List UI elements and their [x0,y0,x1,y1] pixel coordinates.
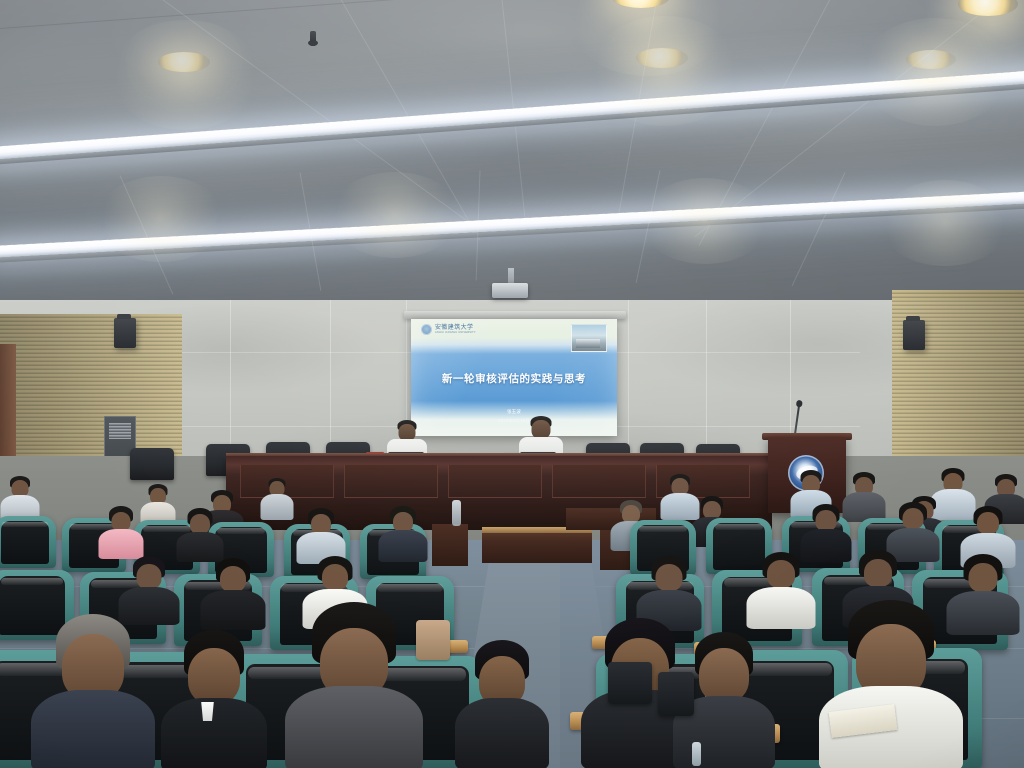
audience-member-foreground [284,602,424,768]
slide-presenter: 张玉波 [411,409,617,415]
downlight-glow [96,176,226,262]
university-crest-icon [421,324,432,335]
slide-university-logo: 安徽建筑大学 ANHUI JIANZHU UNIVERSITY [421,324,476,335]
slide-logo-en: ANHUI JIANZHU UNIVERSITY [435,331,476,334]
water-bottle [452,500,461,526]
water-bottle [692,742,701,766]
downlight-glow [860,18,1010,126]
lecture-hall-photo: 安徽建筑大学 ANHUI JIANZHU UNIVERSITY 新一轮审核评估的… [0,0,1024,768]
aisle-desk-left [432,524,468,566]
auditorium-seat[interactable] [0,516,56,568]
audience-member-foreground [30,614,156,768]
recessed-downlight[interactable] [906,50,956,69]
audience-member [200,558,266,628]
audience-member [118,556,180,622]
fire-sprinkler [310,31,316,46]
stage-chair[interactable] [130,448,174,480]
slide-date: 2023年8月10日 [411,418,617,424]
audience-member [746,552,816,626]
downlight-glow [590,16,740,126]
audience-member [260,478,294,518]
projection-screen[interactable]: 安徽建筑大学 ANHUI JIANZHU UNIVERSITY 新一轮审核评估的… [411,319,617,436]
wall-speaker-left [114,318,136,348]
downlight-glow [880,180,1010,266]
recessed-downlight[interactable] [636,48,688,68]
slide-logo-zh: 安徽建筑大学 [435,325,476,331]
aisle-desk-center [482,527,592,563]
projection-screen-housing [404,311,626,319]
shoulder-bag [608,662,652,704]
audience-member [176,508,224,560]
audience-member [454,640,550,768]
wall-speaker-right [903,320,925,350]
recessed-downlight[interactable] [158,52,210,72]
slide-title: 新一轮审核评估的实践与思考 [411,371,617,386]
audience-member [378,506,428,560]
audience-member [160,630,268,768]
cabinet-vent [109,423,131,439]
audience-member-foreground [818,600,964,768]
ceiling-projector[interactable] [492,283,528,298]
audience-member [98,506,144,556]
downlight-glow [330,172,460,258]
shoulder-bag [658,672,694,716]
downlight-glow [640,178,770,264]
downlight-glow [110,20,260,130]
audience-member [296,508,346,562]
handout-paper [416,620,450,660]
slide-photo-thumbnail [571,324,607,352]
